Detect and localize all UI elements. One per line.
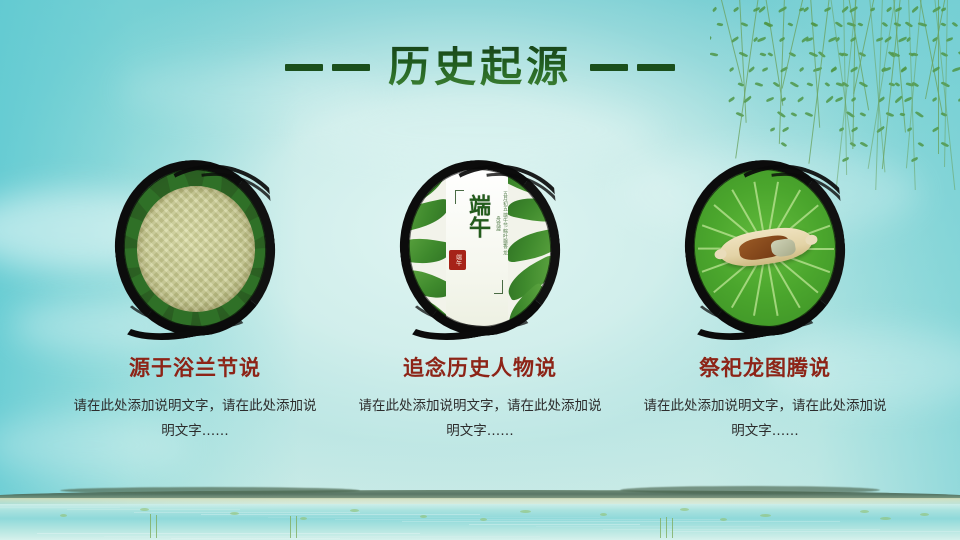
origin-cards: 源于浴兰节说 请在此处添加说明文字，请在此处添加说明文字…… 端午 端午 五月初… <box>0 150 960 480</box>
card-description: 请在此处添加说明文字，请在此处添加说明文字…… <box>642 394 888 444</box>
dash-icon <box>637 64 675 71</box>
card-description: 请在此处添加说明文字，请在此处添加说明文字…… <box>357 394 603 444</box>
card-title: 源于浴兰节说 <box>45 352 345 382</box>
card-description: 请在此处添加说明文字，请在此处添加说明文字…… <box>72 394 318 444</box>
medallion[interactable] <box>107 150 283 344</box>
page-title: 历史起源 <box>0 40 960 94</box>
dash-icon <box>590 64 628 71</box>
slide-canvas: 历史起源 源于浴兰节说 请在此处添加说明文字，请在此处添加说明文字…… <box>0 0 960 540</box>
origin-card[interactable]: 端午 端午 五月初五 端午节 粽叶飘香 龙舟竞渡 追念历史人物说 请在此处添加说… <box>330 150 630 444</box>
dash-icon <box>332 64 370 71</box>
origin-card[interactable]: 祭祀龙图腾说 请在此处添加说明文字，请在此处添加说明文字…… <box>615 150 915 444</box>
origin-card[interactable]: 源于浴兰节说 请在此处添加说明文字，请在此处添加说明文字…… <box>45 150 345 444</box>
dash-icon <box>285 64 323 71</box>
medallion[interactable]: 端午 端午 五月初五 端午节 粽叶飘香 龙舟竞渡 <box>392 150 568 344</box>
card-title: 祭祀龙图腾说 <box>615 352 915 382</box>
title-left-dashes <box>285 64 370 71</box>
lake-water <box>0 472 960 540</box>
page-title-text: 历史起源 <box>388 46 572 88</box>
title-right-dashes <box>590 64 675 71</box>
medallion[interactable] <box>677 150 853 344</box>
card-title: 追念历史人物说 <box>330 352 630 382</box>
